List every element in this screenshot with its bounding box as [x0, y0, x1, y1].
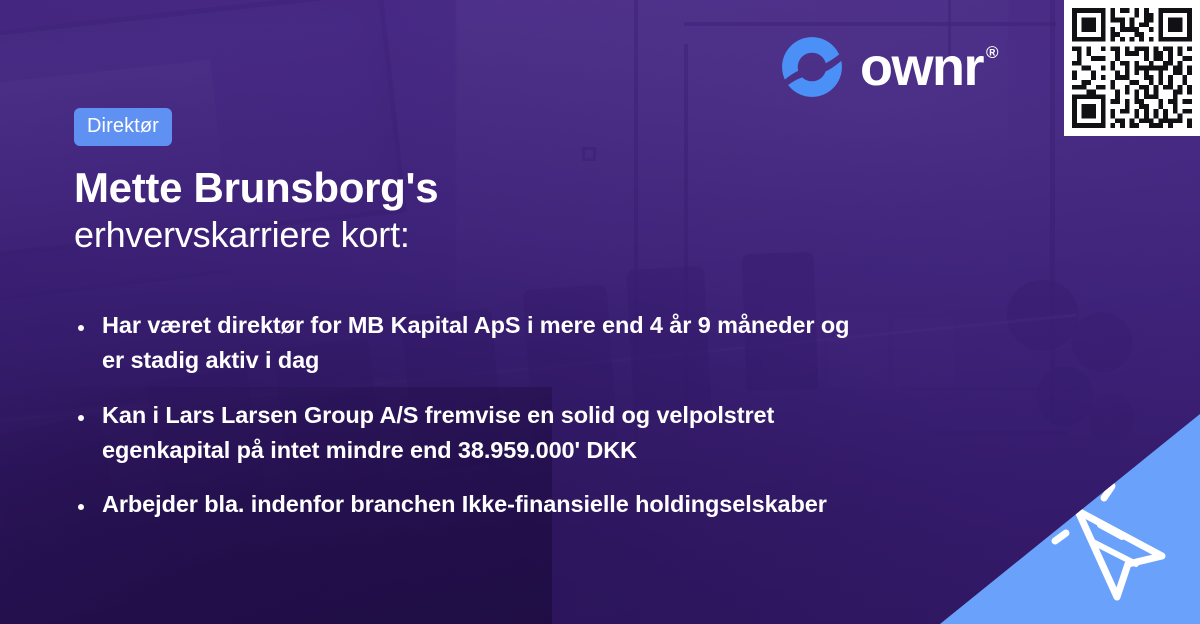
page-title: Mette Brunsborg's erhvervskarriere kort:	[74, 164, 1004, 256]
bullet-dot-icon	[78, 504, 84, 510]
list-item: Har været direktør for MB Kapital ApS i …	[74, 308, 874, 378]
ownr-wordmark-text: ownr	[860, 40, 983, 94]
fact-list: Har været direktør for MB Kapital ApS i …	[74, 308, 1004, 522]
list-item-text: Har været direktør for MB Kapital ApS i …	[102, 312, 849, 373]
list-item: Arbejder bla. indenfor branchen Ikke-fin…	[74, 487, 874, 522]
headline-line-1: Mette Brunsborg's	[74, 164, 1004, 211]
content-block: Direktør Mette Brunsborg's erhvervskarri…	[74, 108, 1004, 522]
headline-line-2: erhvervskarriere kort:	[74, 213, 1004, 256]
ownr-logo-icon	[778, 33, 846, 101]
career-card: ownr ® Direktør Mette Brunsborg's erhver…	[0, 0, 1200, 624]
registered-mark: ®	[986, 44, 997, 61]
bullet-dot-icon	[78, 325, 84, 331]
ownr-wordmark: ownr ®	[860, 40, 997, 94]
bullet-dot-icon	[78, 415, 84, 421]
qr-code[interactable]	[1064, 0, 1200, 136]
ownr-logo[interactable]: ownr ®	[778, 33, 997, 101]
list-item: Kan i Lars Larsen Group A/S fremvise en …	[74, 398, 874, 468]
list-item-text: Arbejder bla. indenfor branchen Ikke-fin…	[102, 491, 827, 517]
role-badge: Direktør	[74, 108, 172, 146]
list-item-text: Kan i Lars Larsen Group A/S fremvise en …	[102, 402, 774, 463]
